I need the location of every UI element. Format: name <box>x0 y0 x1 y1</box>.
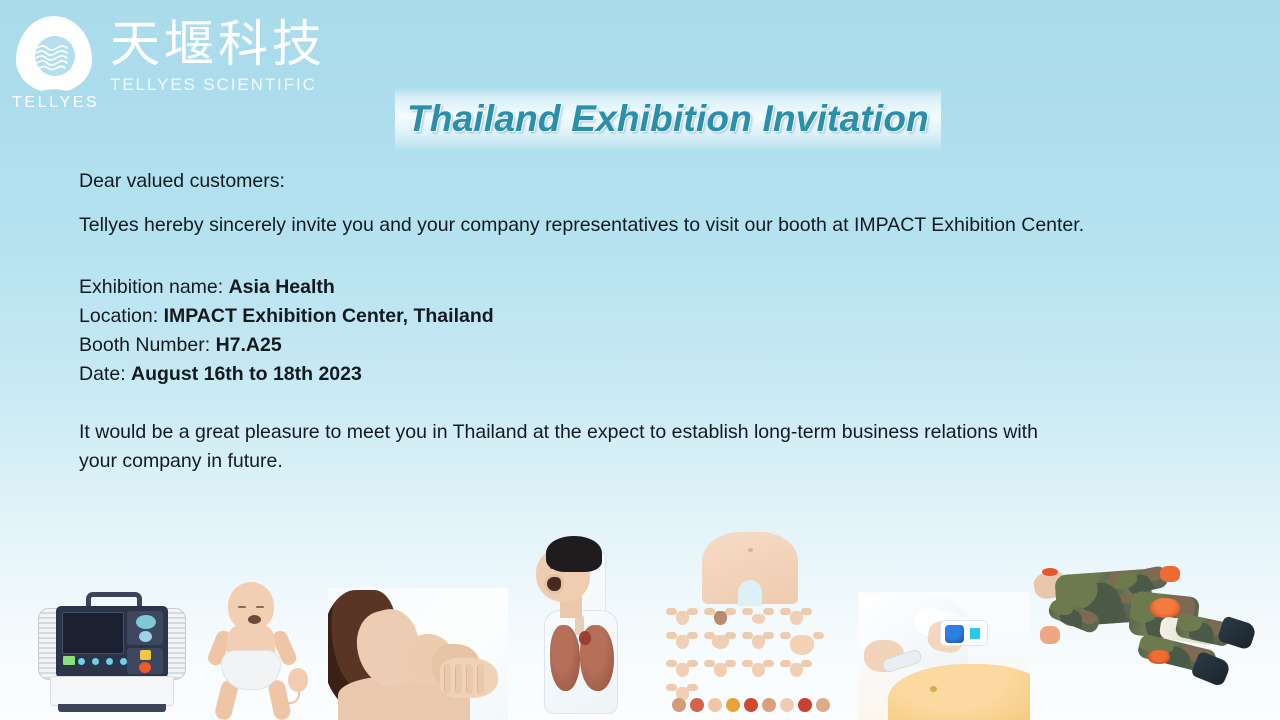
product-image-airway-lung-trainer <box>528 536 638 720</box>
uterus-insert-grid <box>666 608 836 708</box>
device-indicator-blue <box>945 625 964 643</box>
specimen <box>762 698 776 712</box>
boot-lower <box>1190 651 1231 688</box>
uterus-insert <box>742 608 774 626</box>
lung-left <box>550 625 580 691</box>
specimen <box>744 698 758 712</box>
uterus-insert <box>704 608 736 626</box>
device-screen <box>62 612 124 654</box>
invitation-slide: TELLYES 天堰科技 TELLYES SCIENTIFIC Thailand… <box>0 0 1280 720</box>
status-strip <box>63 656 75 665</box>
open-mouth <box>248 615 261 624</box>
dial-small <box>139 631 152 642</box>
product-image-trauma-casualty-manikin <box>1018 558 1248 720</box>
uterus-insert <box>666 660 698 678</box>
head <box>228 582 274 630</box>
hand-wound-upper <box>1160 566 1180 582</box>
uterus-insert <box>780 660 812 678</box>
insert-row <box>666 632 836 654</box>
uterus-insert-large <box>780 632 824 654</box>
pelvis-torso-model <box>702 532 798 604</box>
energy-select-panel <box>127 611 163 645</box>
device-display <box>968 626 982 641</box>
specimen <box>672 698 686 712</box>
product-image-ultrasound-demo <box>858 592 1030 720</box>
insert-row <box>666 660 836 678</box>
specimen <box>798 698 812 712</box>
uterus-insert <box>666 632 698 650</box>
product-image-maternal-newborn-manikin <box>328 588 508 720</box>
leg-wound <box>1148 650 1170 664</box>
uterus-insert <box>666 608 698 626</box>
thigh-wound <box>1150 598 1180 618</box>
specimen <box>780 698 794 712</box>
hair <box>546 536 602 572</box>
device-foot <box>58 704 166 712</box>
uterus-insert <box>780 608 812 626</box>
indicator-leds <box>78 658 127 665</box>
heart <box>579 631 591 645</box>
device-base <box>50 676 174 706</box>
head-wound <box>1042 568 1058 576</box>
uterus-insert <box>742 660 774 678</box>
shock-button-panel <box>127 648 163 674</box>
abdomen-simulator <box>888 664 1030 720</box>
charge-button <box>140 650 151 660</box>
specimen <box>816 698 830 712</box>
specimen <box>726 698 740 712</box>
product-image-defibrillator-monitor <box>36 592 188 720</box>
uterus-insert <box>704 632 736 650</box>
handheld-device <box>940 620 988 646</box>
insert-row <box>666 608 836 626</box>
squeeze-bulb <box>288 668 308 692</box>
specimen <box>690 698 704 712</box>
dial-large <box>136 615 156 629</box>
device-face <box>56 606 168 678</box>
shock-button <box>139 662 151 673</box>
product-image-infant-cpr-manikin <box>196 582 306 720</box>
supporting-hand <box>440 658 498 698</box>
cervix-specimen-row <box>672 698 830 712</box>
transparent-chest <box>544 610 618 714</box>
uterus-insert <box>704 660 736 678</box>
open-mouth <box>544 574 564 594</box>
specimen <box>708 698 722 712</box>
product-image-strip <box>0 0 1280 720</box>
uterus-insert <box>742 632 774 650</box>
hand-lower <box>1040 626 1060 644</box>
navel <box>748 548 753 552</box>
product-image-obstetric-model-set <box>666 530 836 720</box>
